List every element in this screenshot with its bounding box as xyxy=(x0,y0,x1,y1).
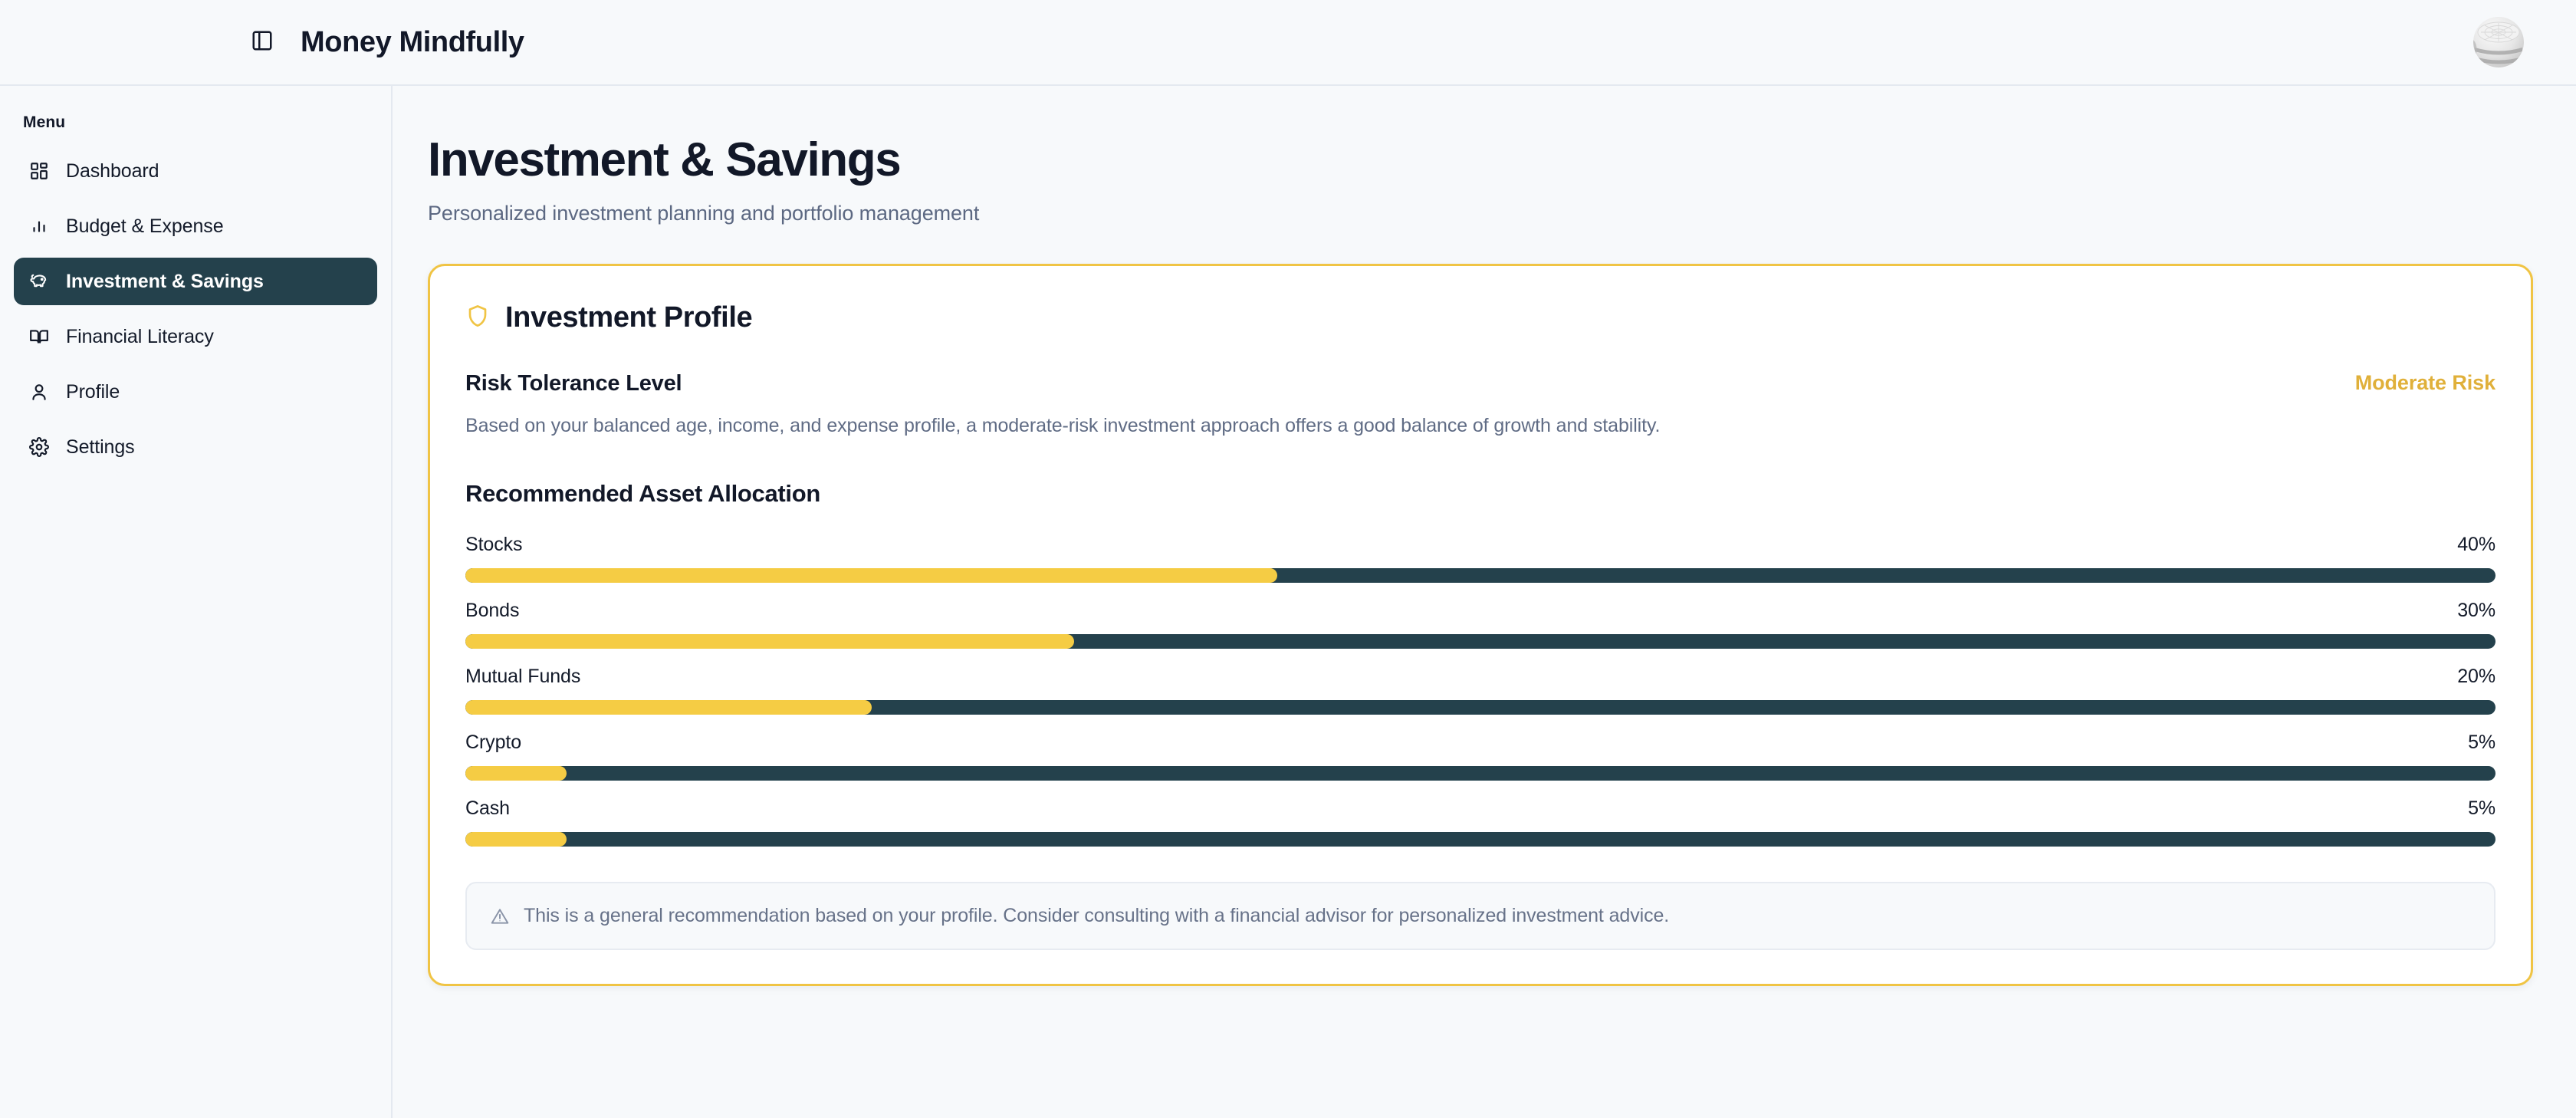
risk-tolerance-heading: Risk Tolerance Level xyxy=(465,371,682,396)
allocation-progress-track xyxy=(465,832,2495,847)
allocation-progress-track xyxy=(465,568,2495,583)
sidebar-item-label: Budget & Expense xyxy=(66,215,224,238)
sidebar-item-investment-savings[interactable]: Investment & Savings xyxy=(14,258,377,305)
allocation-list: Stocks 40% Bonds 30% Mutual Funds xyxy=(465,534,2495,847)
card-title: Investment Profile xyxy=(505,301,752,334)
book-open-icon xyxy=(26,324,52,350)
allocation-label: Stocks xyxy=(465,534,522,556)
investment-profile-card: Investment Profile Risk Tolerance Level … xyxy=(428,264,2533,986)
main-content: Investment & Savings Personalized invest… xyxy=(393,86,2576,1118)
sidebar-item-label: Financial Literacy xyxy=(66,326,214,348)
allocation-progress-track xyxy=(465,700,2495,715)
allocation-heading: Recommended Asset Allocation xyxy=(465,480,2495,508)
sidebar-toggle-button[interactable] xyxy=(244,24,281,61)
sidebar-menu-label: Menu xyxy=(0,113,391,132)
allocation-label: Cash xyxy=(465,797,510,820)
allocation-percent: 20% xyxy=(2457,666,2495,688)
sidebar-item-label: Profile xyxy=(66,381,120,403)
user-icon xyxy=(26,379,52,405)
allocation-row: Bonds 30% xyxy=(465,600,2495,649)
allocation-row: Mutual Funds 20% xyxy=(465,666,2495,715)
sidebar-toggle-icon xyxy=(251,29,274,56)
allocation-label: Mutual Funds xyxy=(465,666,580,688)
card-header: Investment Profile xyxy=(465,301,2495,334)
piggy-bank-icon xyxy=(26,268,52,294)
shield-icon xyxy=(465,304,490,332)
allocation-percent: 5% xyxy=(2468,732,2495,754)
allocation-percent: 30% xyxy=(2457,600,2495,622)
warning-triangle-icon xyxy=(490,906,510,926)
allocation-percent: 5% xyxy=(2468,797,2495,820)
disclaimer-text: This is a general recommendation based o… xyxy=(524,905,1669,927)
allocation-progress-fill xyxy=(465,700,872,715)
allocation-progress-fill xyxy=(465,568,1277,583)
bar-chart-icon xyxy=(26,213,52,239)
allocation-progress-track xyxy=(465,766,2495,781)
avatar[interactable] xyxy=(2473,17,2524,67)
sidebar-item-budget-expense[interactable]: Budget & Expense xyxy=(14,202,377,250)
page-title: Investment & Savings xyxy=(428,135,2530,185)
allocation-progress-fill xyxy=(465,766,567,781)
disclaimer-note: This is a general recommendation based o… xyxy=(465,882,2495,950)
sidebar-item-dashboard[interactable]: Dashboard xyxy=(14,147,377,195)
risk-level-badge: Moderate Risk xyxy=(2355,371,2495,395)
app-header: Money Mindfully xyxy=(0,0,2576,86)
sidebar-item-label: Settings xyxy=(66,436,135,459)
risk-description: Based on your balanced age, income, and … xyxy=(465,415,2495,437)
gear-icon xyxy=(26,434,52,460)
app-title: Money Mindfully xyxy=(301,26,524,59)
allocation-progress-fill xyxy=(465,832,567,847)
allocation-percent: 40% xyxy=(2457,534,2495,556)
allocation-label: Bonds xyxy=(465,600,519,622)
page-subtitle: Personalized investment planning and por… xyxy=(428,202,2530,225)
allocation-label: Crypto xyxy=(465,732,521,754)
allocation-row: Crypto 5% xyxy=(465,732,2495,781)
allocation-progress-fill xyxy=(465,634,1074,649)
allocation-progress-track xyxy=(465,634,2495,649)
sidebar-item-profile[interactable]: Profile xyxy=(14,368,377,416)
sidebar-item-settings[interactable]: Settings xyxy=(14,423,377,471)
grid-icon xyxy=(26,158,52,184)
allocation-row: Cash 5% xyxy=(465,797,2495,847)
risk-tolerance-row: Risk Tolerance Level Moderate Risk xyxy=(465,371,2495,396)
sidebar: Menu Dashboard Budget & Expense Investme… xyxy=(0,86,393,1118)
sidebar-item-label: Investment & Savings xyxy=(66,271,264,293)
sidebar-item-financial-literacy[interactable]: Financial Literacy xyxy=(14,313,377,360)
sidebar-item-label: Dashboard xyxy=(66,160,159,182)
allocation-row: Stocks 40% xyxy=(465,534,2495,583)
